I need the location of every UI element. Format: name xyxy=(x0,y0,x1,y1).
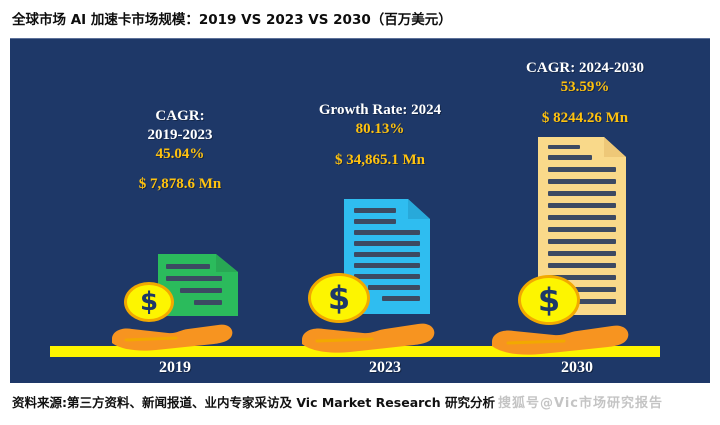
dollar-coin-icon-2030: $ xyxy=(518,275,580,325)
annotation-2030-value: $ 8244.26 Mn xyxy=(490,109,680,128)
annotation-2030: CAGR: 2024-2030 53.59% $ 8244.26 Mn xyxy=(490,59,680,127)
dollar-coin-icon-2023: $ xyxy=(308,273,370,323)
annotation-2023-value: $ 34,865.1 Mn xyxy=(290,151,470,170)
annotation-2023-label-line1: Growth Rate: 2024 xyxy=(290,101,470,120)
axis-label-2019: 2019 xyxy=(130,359,220,377)
bar-group-2023: $ xyxy=(300,199,450,349)
bar-group-2030: $ xyxy=(490,137,645,349)
annotation-2030-rate: 53.59% xyxy=(490,78,680,97)
dollar-sign-2030: $ xyxy=(538,284,560,316)
annotation-2019: CAGR: 2019-2023 45.04% $ 7,878.6 Mn xyxy=(105,107,255,194)
dollar-coin-icon-2019: $ xyxy=(124,282,174,322)
axis-label-2023: 2023 xyxy=(340,359,430,377)
annotation-2030-label-line1: CAGR: 2024-2030 xyxy=(490,59,680,78)
annotation-2019-label-line2: 2019-2023 xyxy=(105,126,255,145)
annotation-2019-label-line1: CAGR: xyxy=(105,107,255,126)
dollar-sign-2019: $ xyxy=(140,289,158,315)
axis-label-2030: 2030 xyxy=(532,359,622,377)
annotation-2019-value: $ 7,878.6 Mn xyxy=(105,175,255,194)
annotation-2023-rate: 80.13% xyxy=(290,120,470,139)
page-title: 全球市场 AI 加速卡市场规模：2019 VS 2023 VS 2030（百万美… xyxy=(12,8,452,28)
source-note: 资料来源:第三方资料、新闻报道、业内专家采访及 Vic Market Resea… xyxy=(12,392,495,411)
annotation-2023: Growth Rate: 2024 80.13% $ 34,865.1 Mn xyxy=(290,101,470,169)
annotation-2019-rate: 45.04% xyxy=(105,145,255,164)
chart-panel: 2019 2023 2030 CAGR: 2019-2023 45.04% $ … xyxy=(10,38,710,383)
dollar-sign-2023: $ xyxy=(328,282,350,314)
watermark: 搜狐号@Vic市场研究报告 xyxy=(498,392,663,411)
open-hand-icon-2019 xyxy=(110,309,238,351)
bar-group-2019: $ xyxy=(110,254,250,349)
